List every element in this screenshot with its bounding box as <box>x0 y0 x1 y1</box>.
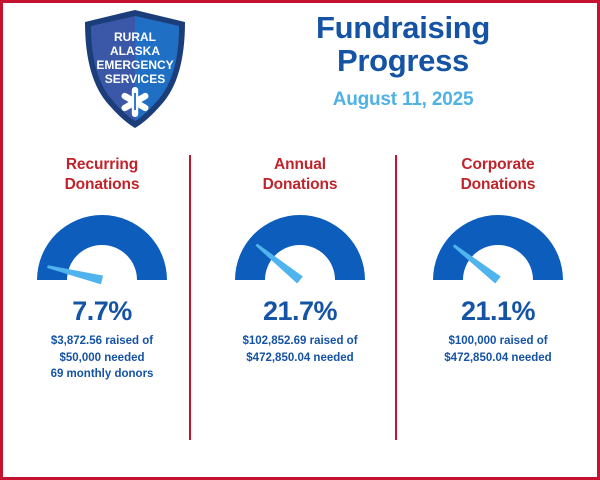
panel-heading-line-2: Donations <box>201 175 399 195</box>
panel-heading-line-1: Corporate <box>399 155 597 175</box>
gauge-corporate-donations <box>399 210 597 288</box>
logo-line-2: ALASKA <box>110 44 160 58</box>
page-title: Fundraising Progress <box>213 11 593 78</box>
gauge-detail: $3,872.56 raised of $50,000 needed 69 mo… <box>3 333 201 383</box>
panel-heading-line-1: Annual <box>201 155 399 175</box>
gauge-dial <box>428 210 568 284</box>
page-title-line-2: Progress <box>213 44 593 77</box>
gauge-detail: $100,000 raised of $472,850.04 needed <box>399 333 597 366</box>
gauge-value: 7.7% <box>3 298 201 325</box>
gauge-detail-line-1: $100,000 raised of <box>409 333 587 350</box>
gauge-detail-line-1: $102,852.69 raised of <box>211 333 389 350</box>
gauge-detail-line-3: 69 monthly donors <box>13 366 191 383</box>
gauge-panels: Recurring Donations 7.7% $3,872.56 raise… <box>3 143 597 473</box>
gauge-dial <box>32 210 172 284</box>
logo-line-1: RURAL <box>114 30 156 44</box>
gauge-value: 21.7% <box>201 298 399 325</box>
header: RURAL ALASKA EMERGENCY SERVICES Fundra <box>3 3 597 143</box>
gauge-arc <box>433 215 563 280</box>
panel-heading: Corporate Donations <box>399 155 597 196</box>
gauge-detail-line-2: $472,850.04 needed <box>211 350 389 367</box>
gauge-detail-line-2: $50,000 needed <box>13 350 191 367</box>
logo-line-3: EMERGENCY <box>96 58 173 72</box>
gauge-dial <box>230 210 370 284</box>
panel-heading-line-2: Donations <box>3 175 201 195</box>
logo-line-4: SERVICES <box>105 72 165 86</box>
gauge-detail-line-2: $472,850.04 needed <box>409 350 587 367</box>
report-date: August 11, 2025 <box>213 89 593 111</box>
organization-logo: RURAL ALASKA EMERGENCY SERVICES <box>79 7 191 131</box>
title-block: Fundraising Progress August 11, 2025 <box>213 11 593 111</box>
panel-corporate-donations: Corporate Donations 21.1% $100,000 raise… <box>399 143 597 473</box>
gauge-arc <box>235 215 365 280</box>
panel-heading-line-2: Donations <box>399 175 597 195</box>
panel-annual-donations: Annual Donations 21.7% $102,852.69 raise… <box>201 143 399 473</box>
panel-heading-line-1: Recurring <box>3 155 201 175</box>
gauge-detail-line-1: $3,872.56 raised of <box>13 333 191 350</box>
shield-icon: RURAL ALASKA EMERGENCY SERVICES <box>79 7 191 131</box>
page-title-line-1: Fundraising <box>213 11 593 44</box>
panel-heading: Recurring Donations <box>3 155 201 196</box>
fundraising-progress-infographic: RURAL ALASKA EMERGENCY SERVICES Fundra <box>0 0 600 480</box>
panel-recurring-donations: Recurring Donations 7.7% $3,872.56 raise… <box>3 143 201 473</box>
gauge-recurring-donations <box>3 210 201 288</box>
gauge-annual-donations <box>201 210 399 288</box>
panel-heading: Annual Donations <box>201 155 399 196</box>
gauge-detail: $102,852.69 raised of $472,850.04 needed <box>201 333 399 366</box>
gauge-value: 21.1% <box>399 298 597 325</box>
